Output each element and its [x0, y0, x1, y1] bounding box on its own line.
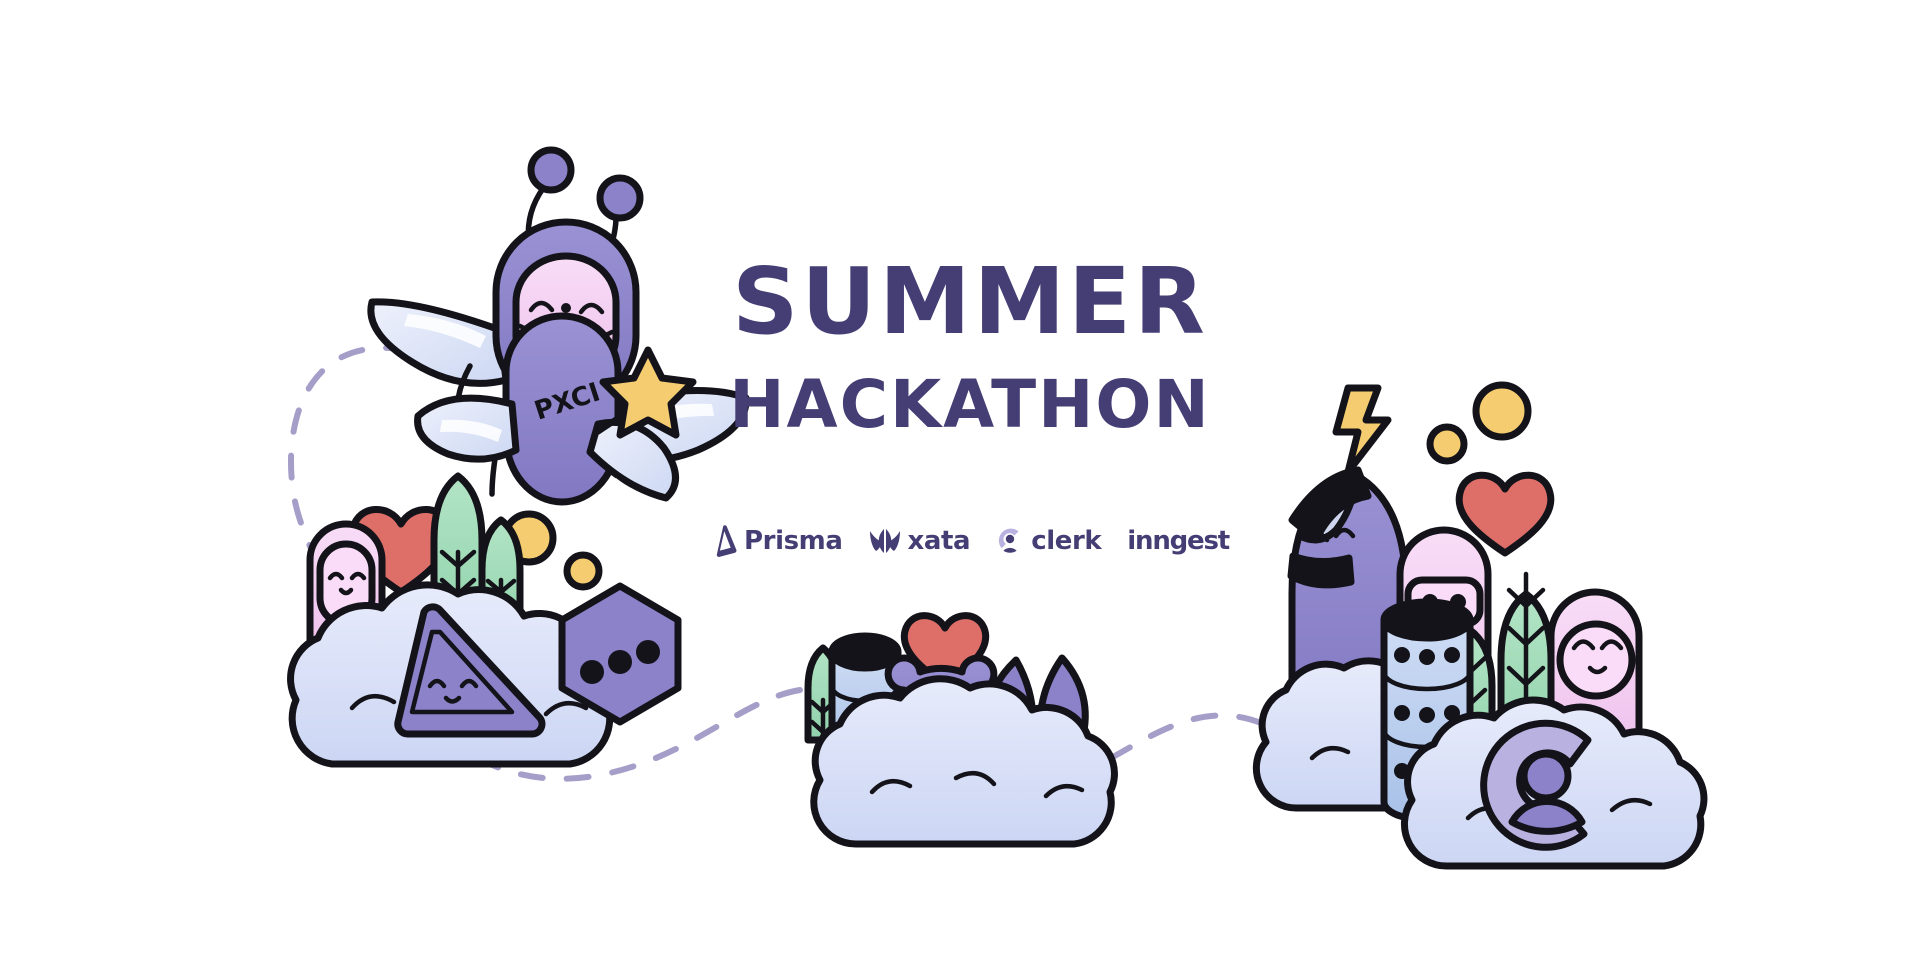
right-cloud-cluster — [1256, 385, 1704, 866]
sponsor-xata[interactable]: xata — [869, 526, 971, 556]
wing-upper-left — [371, 302, 506, 384]
wing-lower-left — [418, 398, 516, 459]
fairy-bug-mascot: PXCI — [371, 150, 746, 516]
prisma-logo-icon — [711, 525, 737, 557]
lightning-bolt-icon — [1336, 388, 1388, 472]
left-cloud-cluster — [291, 476, 678, 764]
sponsor-prisma[interactable]: Prisma — [711, 525, 843, 557]
mascot-body: PXCI — [506, 316, 618, 502]
yellow-circle-large — [1476, 385, 1528, 437]
inngest-wordmark-icon: inngest — [1127, 528, 1229, 554]
sponsor-name-clerk: clerk — [1031, 528, 1101, 554]
center-cloud-cluster — [808, 616, 1114, 844]
clerk-logo-icon — [996, 527, 1024, 555]
xata-hexagon-icon — [562, 586, 678, 722]
sponsor-name-prisma: Prisma — [744, 528, 843, 554]
sponsor-name-xata: xata — [908, 528, 971, 554]
xata-butterfly-icon — [869, 526, 901, 556]
yellow-circle-small — [567, 555, 599, 587]
illustration-canvas: .ol { stroke:#14131a; stroke-width:7; st… — [0, 0, 1920, 960]
sponsor-logo-row: Prisma xata clerk inngest — [690, 525, 1250, 557]
hackathon-banner: .ol { stroke:#14131a; stroke-width:7; st… — [0, 0, 1920, 960]
yellow-circle-small — [1430, 427, 1464, 461]
sponsor-clerk[interactable]: clerk — [996, 527, 1101, 555]
sponsor-inngest[interactable]: inngest — [1127, 528, 1229, 554]
